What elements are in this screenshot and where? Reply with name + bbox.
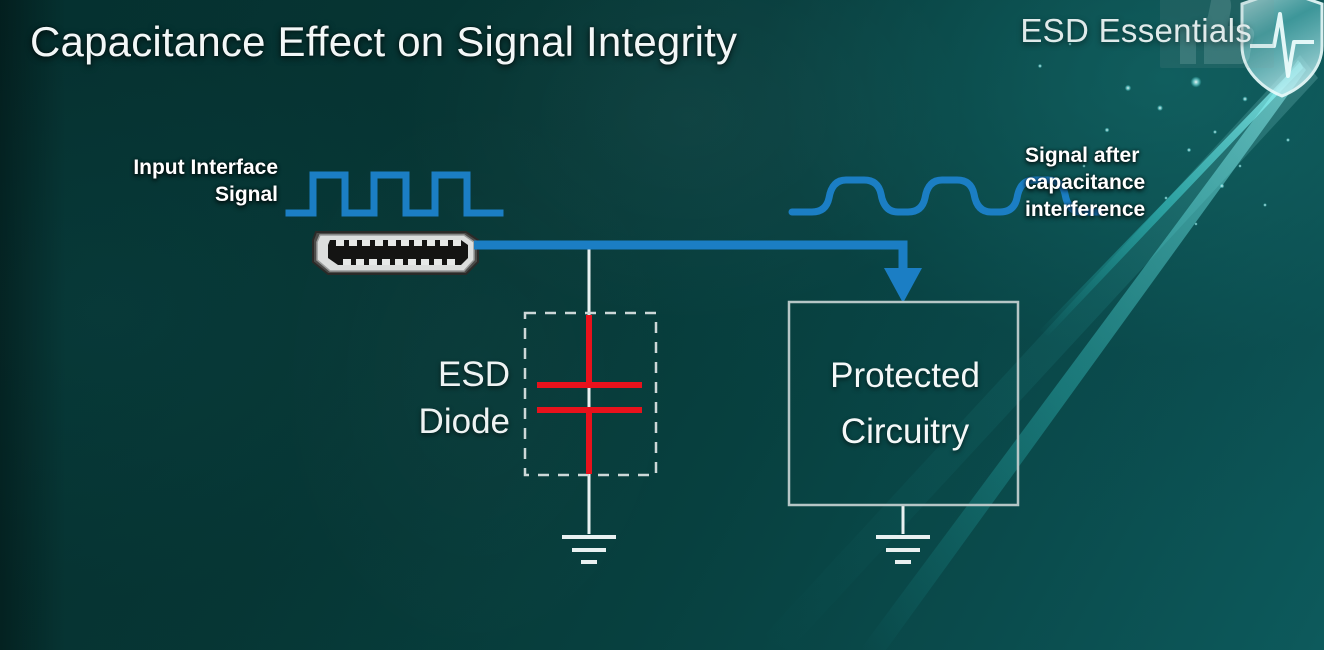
slide-canvas: Capacitance Effect on Signal Integrity E… [0, 0, 1324, 650]
input-waveform [289, 175, 500, 213]
output-signal-label: Signal after capacitance interference [1025, 143, 1240, 224]
protected-circuitry-label-line2: Circuitry [790, 404, 1020, 460]
esd-diode-label-line1: ESD [438, 355, 510, 394]
protected-circuitry-label-line1: Protected [790, 348, 1020, 404]
input-signal-label-line2: Signal [215, 183, 278, 206]
ground-symbol-capacitor [562, 537, 616, 562]
output-signal-label-line1: Signal after [1025, 144, 1139, 167]
output-signal-label-line2: capacitance [1025, 171, 1145, 194]
output-signal-label-line3: interference [1025, 198, 1145, 221]
ground-symbol-protected [876, 537, 930, 562]
signal-path-arrow [474, 245, 922, 303]
input-signal-label: Input Interface Signal [88, 155, 278, 209]
esd-diode-label: ESD Diode [395, 352, 510, 445]
circuit-diagram [0, 0, 1324, 650]
input-signal-label-line1: Input Interface [133, 156, 278, 179]
hdmi-connector-icon [313, 232, 478, 274]
protected-circuitry-label: Protected Circuitry [790, 348, 1020, 460]
esd-diode-label-line2: Diode [419, 402, 510, 441]
